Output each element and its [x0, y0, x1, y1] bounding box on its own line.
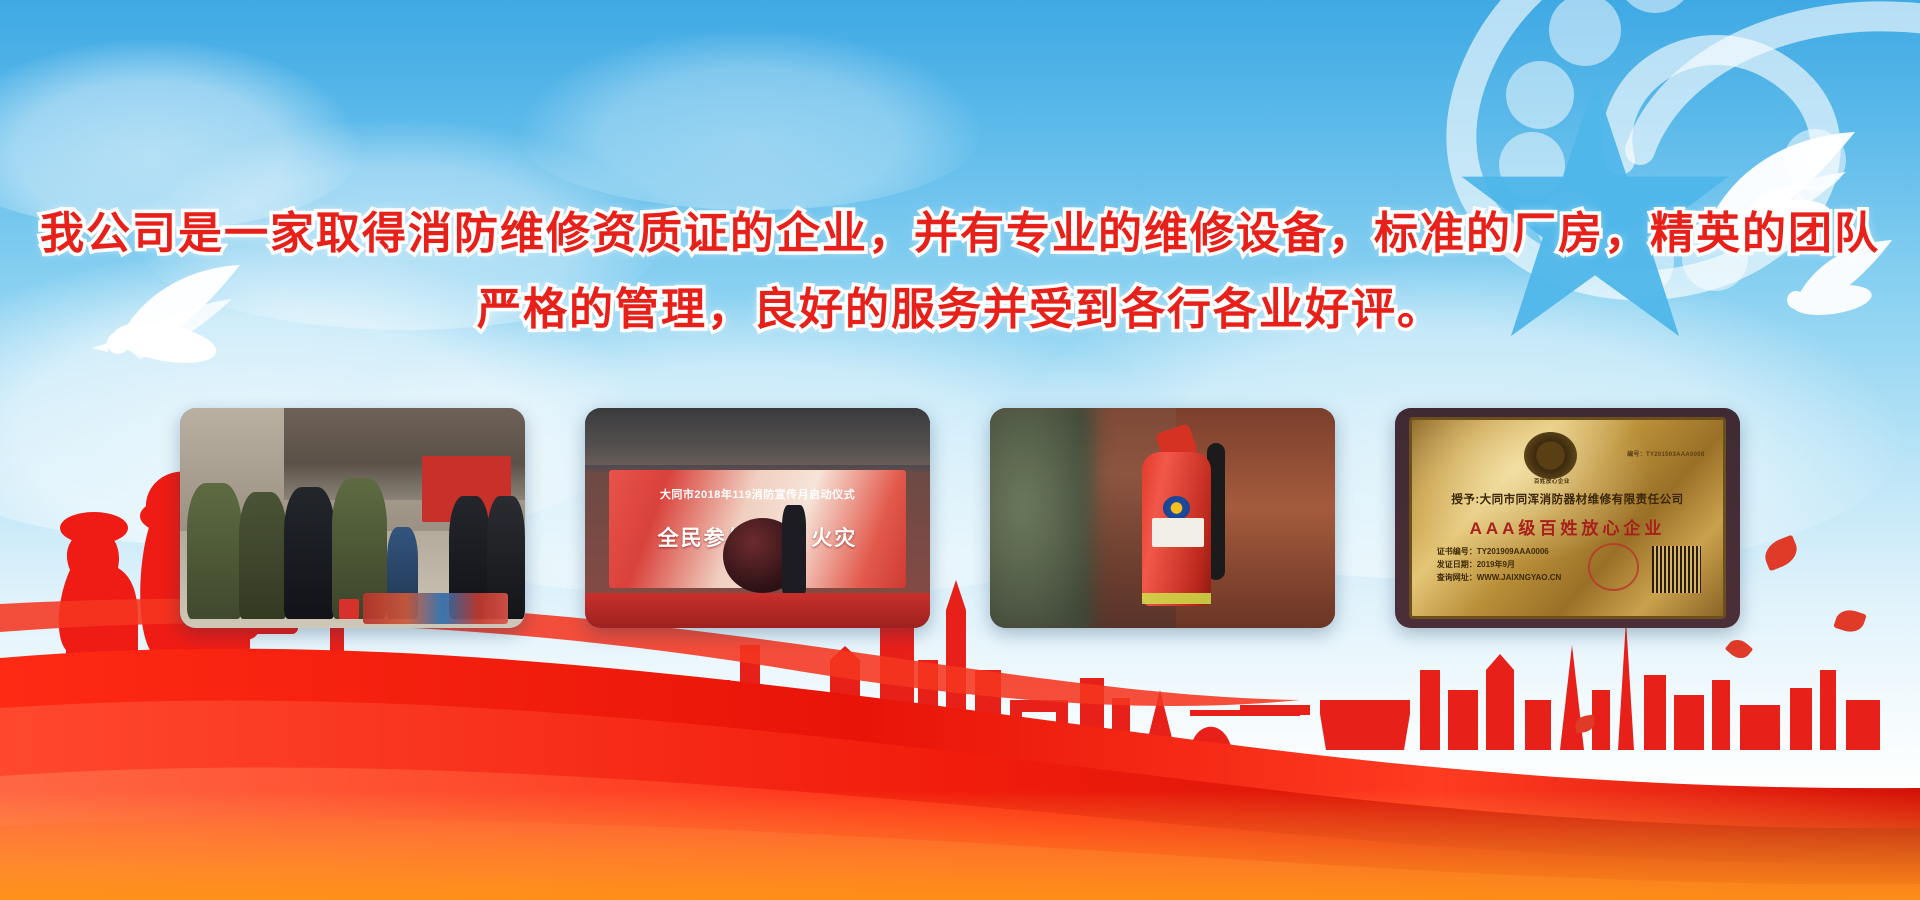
photo-gallery: 大同市2018年119消防宣传月启动仪式 全民参与 消防 火灾: [0, 408, 1920, 628]
plaque-red-stamp-icon: [1588, 543, 1639, 590]
plaque-grant-line: 授予:大同市同浑消防器材维修有限责任公司: [1412, 491, 1723, 507]
plaque-seal-icon: [1524, 432, 1577, 479]
plaque-issue-date: 发证日期：2019年9月: [1437, 558, 1562, 571]
headline-block: 我公司是一家取得消防维修资质证的企业，并有专业的维修设备，标准的厂房，精英的团队…: [0, 196, 1920, 348]
headline-line-1: 我公司是一家取得消防维修资质证的企业，并有专业的维修设备，标准的厂房，精英的团队: [0, 196, 1920, 272]
headline-line-2: 严格的管理，良好的服务并受到各行各业好评。: [0, 272, 1920, 348]
cloud-shape: [520, 30, 980, 210]
plaque-query-url: 查询网址：WWW.JAIXNGYAO.CN: [1437, 571, 1562, 584]
photo-award-plaque[interactable]: 百姓放心企业 编号：TY201503AAA0008 授予:大同市同浑消防器材维修…: [1395, 408, 1740, 628]
photo-fire-extinguisher[interactable]: [990, 408, 1335, 628]
ceremony-banner-title: 大同市2018年119消防宣传月启动仪式: [609, 486, 906, 502]
plaque-code-top: 编号：TY201503AAA0008: [1627, 449, 1704, 458]
photo-officials-inspection[interactable]: [180, 408, 525, 628]
plaque-meta: 证书编号：TY201909AAA0006 发证日期：2019年9月 查询网址：W…: [1437, 545, 1562, 584]
plaque-cert-number: 证书编号：TY201909AAA0006: [1437, 545, 1562, 558]
plaque-qr-code: [1652, 546, 1702, 593]
plaque-award-title: AAA级百姓放心企业: [1412, 514, 1723, 539]
promo-banner: 我公司是一家取得消防维修资质证的企业，并有专业的维修设备，标准的厂房，精英的团队…: [0, 0, 1920, 900]
photo-119-ceremony[interactable]: 大同市2018年119消防宣传月启动仪式 全民参与 消防 火灾: [585, 408, 930, 628]
plaque-seal-label: 百姓放心企业: [1502, 477, 1602, 485]
